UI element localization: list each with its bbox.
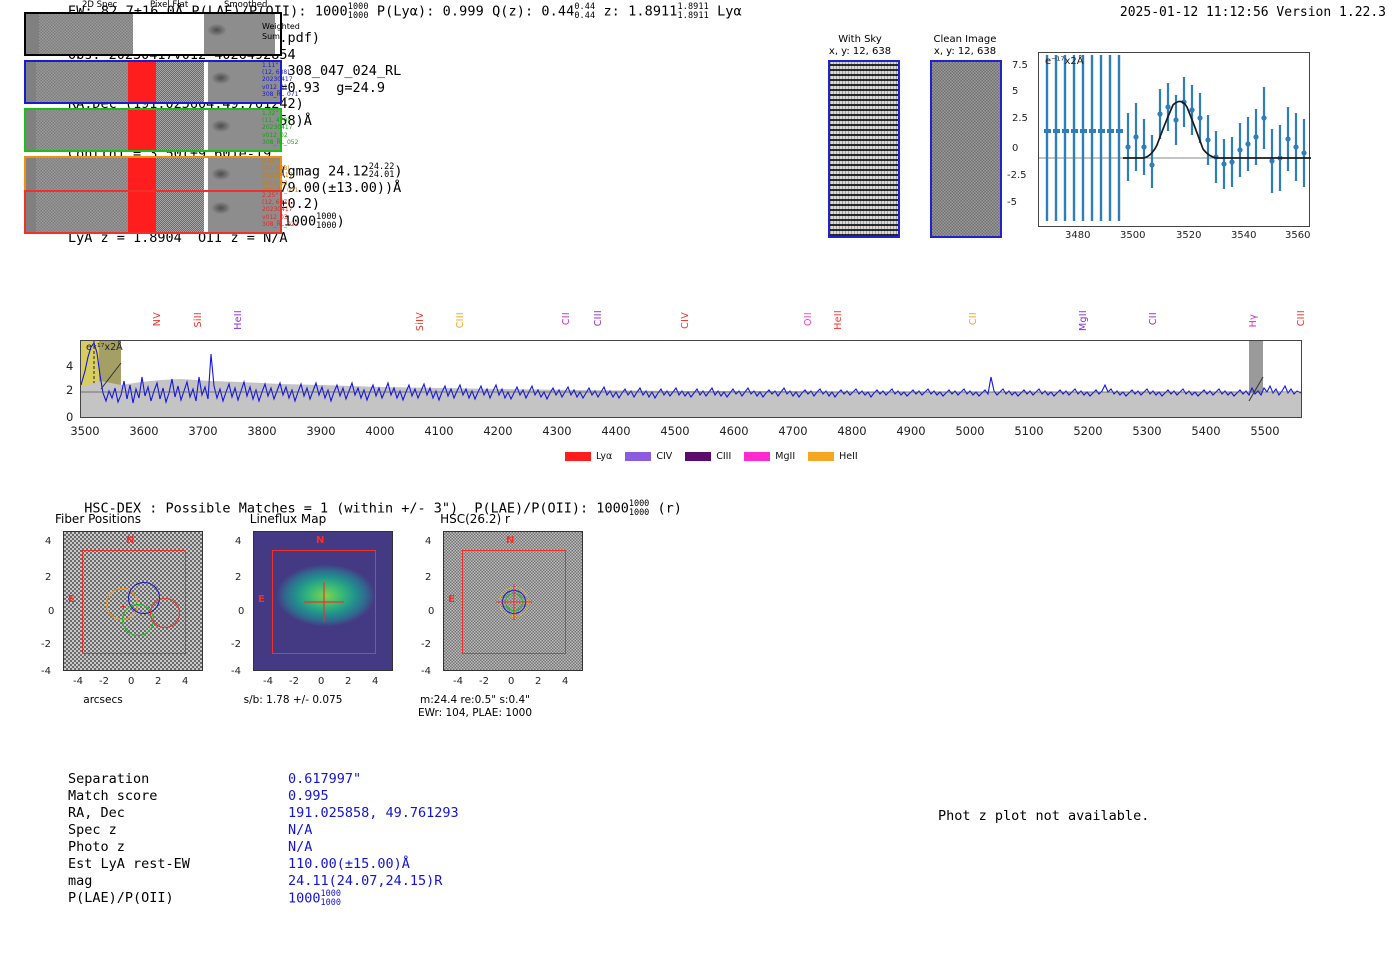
- emline-label-cii-2: CII: [968, 312, 979, 325]
- hsc-r-caption-2: EWr: 104, PLAE: 1000: [375, 707, 575, 720]
- row-value-radec: 191.025858, 49.761293: [288, 805, 459, 822]
- row-value-photo-z: N/A: [288, 839, 312, 856]
- fiber-positions-image: N E +: [63, 531, 203, 671]
- header-qz: Q(z): 0.44: [492, 4, 574, 20]
- emline-label-civ: CIV: [680, 312, 691, 329]
- fullspec-flux-annotation: e⁻¹⁷x2Å: [86, 342, 123, 353]
- row-label-separation: Separation: [68, 771, 149, 788]
- emline-label-ciii-3: CIII: [1296, 310, 1307, 326]
- legend-item-heii: HeII: [808, 451, 858, 462]
- emline-label-ciii-2: CIII: [593, 310, 604, 326]
- col-header-smoothed: Smoothed: [224, 0, 267, 10]
- lineflux-map-caption: s/b: 1.78 +/- 0.075: [193, 694, 393, 707]
- spec2d-row-1-info: 1.11" (12, 638) 20230417 v012_01 308_RL_…: [262, 62, 322, 98]
- col-header-pixelflat: Pixel Flat: [150, 0, 188, 10]
- line-profile-plot: e⁻¹⁷x2Å: [1038, 52, 1310, 227]
- legend-item-ciii: CIII: [685, 451, 731, 462]
- full-spectrum-plot: e⁻¹⁷x2Å: [80, 340, 1302, 418]
- fiber-center-marker: +: [120, 600, 127, 613]
- photz-unavailable-note: Phot z plot not available.: [938, 808, 1149, 824]
- emline-label-oii: OII: [803, 312, 814, 326]
- spectrum-legend: Lyα CIV CIII MgII HeII: [565, 451, 858, 462]
- legend-swatch-civ: [625, 452, 651, 461]
- spec2d-row-1: [24, 60, 282, 104]
- hsc-crosshair: [444, 532, 584, 672]
- row-value-plae-lo: 1000: [321, 898, 341, 908]
- row-label-est-lya-ew: Est LyA rest-EW: [68, 856, 190, 873]
- row-value-mag: 24.11(24.07,24.15)R: [288, 873, 442, 890]
- header-plae-lo: 1000: [348, 11, 369, 21]
- legend-item-mgii: MgII: [744, 451, 795, 462]
- full-spectrum-svg: [81, 341, 1301, 417]
- legend-item-lya: Lyα: [565, 451, 612, 462]
- lineflux-map-title: Lineflux Map: [208, 512, 368, 526]
- with-sky-title: With Sky x, y: 12, 638: [810, 34, 910, 58]
- legend-item-civ: CIV: [625, 451, 672, 462]
- row-label-spec-z: Spec z: [68, 822, 117, 839]
- header-qz-lo: 0.44: [574, 11, 595, 21]
- col-header-2dspec: 2D Spec: [82, 0, 117, 10]
- hsc-r-title: HSC(26.2) r: [395, 512, 555, 526]
- hsc-r-caption-1: m:24.4 re:0.5" s:0.4": [375, 694, 575, 707]
- hsc-header-tail: (r): [649, 501, 682, 517]
- emline-label-ciii-1: CIII: [455, 312, 466, 328]
- emline-label-siiv: SiIV: [415, 312, 426, 331]
- header-plya: P(Lyα): 0.999: [377, 4, 484, 20]
- header-z-lo: 1.8911: [678, 11, 709, 21]
- with-sky-image: [828, 60, 900, 238]
- fiber-circle-red: [150, 598, 180, 628]
- legend-swatch-ciii: [685, 452, 711, 461]
- lineflux-crosshair: [254, 532, 394, 672]
- spec2d-row-3-info: 0.32" (12, 638) 20230417 v012_03 308_RL_…: [262, 158, 322, 194]
- spec2d-row-4-info: 2.25" (12, 647) 20230417 v012_03 308_RL_…: [262, 192, 322, 228]
- weighted-sum-label: Weighted Sum: [262, 22, 300, 41]
- spec2d-row-2: [24, 108, 282, 152]
- info-cont-w-post: ): [394, 163, 402, 179]
- row-label-radec: RA, Dec: [68, 805, 125, 822]
- compass-east-fiber: E: [68, 594, 75, 605]
- row-value-match-score: 0.995: [288, 788, 329, 805]
- row-value-separation: 0.617997": [288, 771, 361, 788]
- clean-image-title: Clean Image x, y: 12, 638: [910, 34, 1020, 58]
- line-profile-svg: [1039, 53, 1311, 228]
- timestamp-version: 2025-01-12 11:12:56 Version 1.22.3: [1120, 5, 1386, 20]
- header-z: z: 1.8911: [603, 4, 677, 20]
- compass-north-fiber: N: [126, 535, 134, 546]
- emline-label-cii-1: CII: [561, 312, 572, 325]
- info-cont-w-lo: 24.01: [369, 170, 395, 180]
- spec2d-row-4: [24, 190, 282, 234]
- emline-label-cii-3: CII: [1148, 312, 1159, 325]
- lineflux-map-image: N E: [253, 531, 393, 671]
- emline-label-hgamma: Hγ: [1248, 314, 1259, 327]
- hsc-r-image: N E: [443, 531, 583, 671]
- spec2d-row-2-info: 1.32" (11, 470) 20230417 v012_02 308_RL_…: [262, 110, 322, 146]
- emline-label-sii: SiII: [193, 312, 204, 327]
- row-label-match-score: Match score: [68, 788, 157, 805]
- legend-swatch-lya: [565, 452, 591, 461]
- hsc-header-lo: 1000: [629, 508, 649, 518]
- header-line-id: Lyα: [717, 4, 742, 20]
- emline-label-heii-1: HeII: [233, 310, 244, 330]
- fiber-positions-title: Fiber Positions: [18, 512, 178, 526]
- emline-label-heii-2: HeII: [833, 310, 844, 330]
- row-label-plae: P(LAE)/P(OII): [68, 890, 174, 907]
- clean-image: [930, 60, 1002, 238]
- row-value-plae: 100010001000: [288, 890, 341, 907]
- legend-swatch-mgii: [744, 452, 770, 461]
- fiber-positions-caption: arcsecs: [3, 694, 203, 707]
- emline-label-nv: NV: [152, 312, 163, 326]
- row-value-est-lya-ew: 110.00(±15.00)Å: [288, 856, 410, 873]
- row-label-mag: mag: [68, 873, 92, 890]
- emline-label-mgii: MgII: [1078, 310, 1089, 331]
- row-value-spec-z: N/A: [288, 822, 312, 839]
- legend-swatch-heii: [808, 452, 834, 461]
- weighted-sum-strip: [24, 12, 282, 56]
- row-label-photo-z: Photo z: [68, 839, 125, 856]
- lineprofile-flux-annotation: e⁻¹⁷x2Å: [1045, 56, 1084, 67]
- info-plae-post: ): [337, 214, 345, 230]
